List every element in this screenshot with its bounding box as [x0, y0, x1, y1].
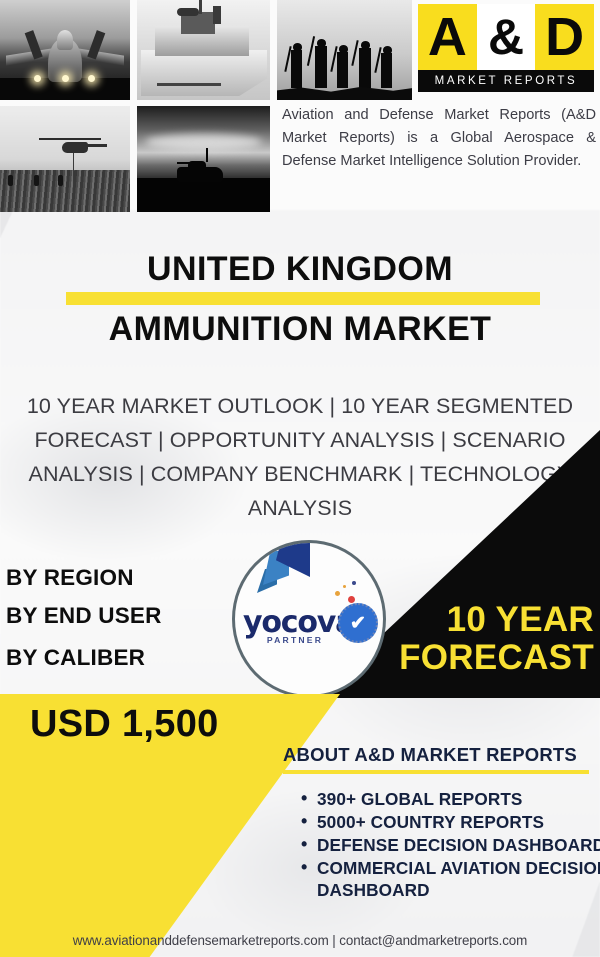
logo-letters: A & D: [418, 4, 594, 70]
about-bullet-list: 390+ GLOBAL REPORTS 5000+ COUNTRY REPORT…: [295, 788, 600, 902]
list-item: 390+ GLOBAL REPORTS: [317, 788, 600, 810]
segmentation-item-by-caliber: BY CALIBER: [6, 645, 145, 671]
yocova-partner-badge: yocova PARTNER ✔: [232, 540, 386, 698]
footer-contact: www.aviationanddefensemarketreports.com …: [0, 933, 600, 948]
fighter-jet-photo: [0, 0, 130, 100]
yocova-partner-label: PARTNER: [243, 635, 347, 645]
segmentation-item-by-region: BY REGION: [6, 565, 134, 591]
logo-letter-a: A: [418, 4, 477, 70]
list-item: DEFENSE DECISION DASHBOARD: [317, 834, 600, 856]
segmentation-item-by-end-user: BY END USER: [6, 603, 162, 629]
title-line-2: AMMUNITION MARKET: [0, 310, 600, 349]
naval-warship-photo: [137, 0, 270, 100]
armored-vehicle-photo: [137, 106, 270, 212]
title-divider-rule: [66, 292, 540, 305]
logo-letter-ampersand: &: [477, 4, 536, 70]
list-item: COMMERCIAL AVIATION DECISION DASHBOARD: [317, 857, 600, 901]
title-line-1: UNITED KINGDOM: [0, 250, 600, 289]
marketing-poster: A & D MARKET REPORTS Aviation and Defens…: [0, 0, 600, 957]
verified-check-icon: ✔: [338, 603, 378, 643]
yocova-confetti-dots-icon: [331, 579, 365, 603]
intro-paragraph: Aviation and Defense Market Reports (A&D…: [282, 104, 596, 173]
ad-market-reports-logo: A & D MARKET REPORTS: [418, 4, 594, 92]
list-item: 5000+ COUNTRY REPORTS: [317, 811, 600, 833]
soldiers-silhouette-photo: [277, 0, 412, 100]
military-helicopter-photo: [0, 106, 130, 212]
logo-tagline-bar: MARKET REPORTS: [418, 70, 594, 92]
logo-tagline: MARKET REPORTS: [435, 75, 578, 87]
about-heading-underline: [283, 770, 589, 774]
subtitle-scope-list: 10 YEAR MARKET OUTLOOK | 10 YEAR SEGMENT…: [18, 390, 582, 526]
price-value: USD 1,500: [30, 703, 290, 746]
about-heading: ABOUT A&D MARKET REPORTS: [283, 744, 593, 766]
logo-letter-d: D: [535, 4, 594, 70]
